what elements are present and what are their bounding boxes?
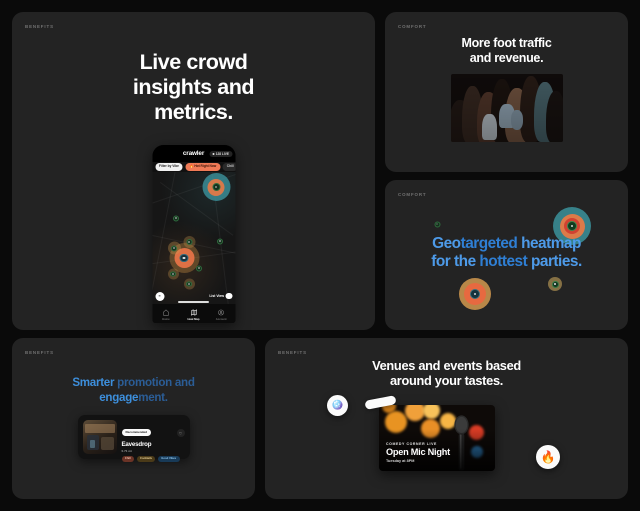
geo-heading-2b: hottest xyxy=(479,253,531,270)
venue-info: Recommended Eavesdrop 0.71 mi Chill Cock… xyxy=(122,420,185,454)
card-venues-events[interactable]: BENEFITS Venues and events based around … xyxy=(265,338,628,499)
venue-distance: 0.71 mi xyxy=(122,449,185,453)
tab-account-label: Account xyxy=(216,318,227,321)
promo-heading-d: ment. xyxy=(138,391,168,404)
map-icon xyxy=(190,309,197,316)
heat-blob-small xyxy=(548,277,562,291)
fire-glyph: 🔥 xyxy=(541,450,556,464)
heat-map-canvas[interactable]: ≡ List View xyxy=(152,172,235,304)
live-dot-icon xyxy=(213,153,215,155)
page-title-geo: Geotargeted heatmap for the hottest part… xyxy=(393,235,620,271)
heat-blob-small[interactable] xyxy=(168,269,179,280)
filter-bar[interactable]: Filter by Vibe 🔥 Hot Right Now Chill xyxy=(152,162,235,172)
card-geotargeted-heatmap[interactable]: COMFORT Geotargeted heatmap for the hott… xyxy=(385,180,628,330)
map-pin xyxy=(552,281,559,288)
promo-heading-a: Smarter xyxy=(72,376,117,389)
app-brand: crawler xyxy=(183,150,204,157)
eyebrow-benefits: BENEFITS xyxy=(278,350,307,355)
promo-heading-line-1: Smarter promotion and xyxy=(28,376,239,391)
crowd-photo xyxy=(451,74,563,142)
promo-heading-line-2: engagement. xyxy=(28,391,239,406)
venues-heading-line-1: Venues and events based xyxy=(265,359,628,374)
map-pin[interactable] xyxy=(212,183,220,191)
eyebrow-comfort: COMFORT xyxy=(398,192,427,197)
page-title-crowd: Live crowd insights and metrics. xyxy=(12,50,375,125)
promo-heading-b: promotion and xyxy=(117,376,195,389)
map-pin[interactable] xyxy=(170,271,176,277)
fire-icon: 🔥 xyxy=(536,445,560,469)
disco-ball-icon: 🪩 xyxy=(327,395,348,416)
page-title-promo: Smarter promotion and engagement. xyxy=(28,376,239,406)
venue-name: Eavesdrop xyxy=(122,441,185,448)
filter-by-vibe-button[interactable]: Filter by Vibe xyxy=(155,163,183,170)
list-view-label: List View xyxy=(209,294,224,298)
event-subtitle: Tuesday at 8PM xyxy=(386,459,450,463)
tab-home-label: Home xyxy=(162,318,169,321)
event-kicker: COMEDY CORNER LIVE xyxy=(386,442,450,446)
card-smarter-promotion[interactable]: BENEFITS Smarter promotion and engagemen… xyxy=(12,338,255,499)
map-pin[interactable] xyxy=(173,215,179,221)
card-foot-traffic[interactable]: COMFORT More foot traffic and revenue. xyxy=(385,12,628,172)
heat-blob-small[interactable] xyxy=(183,236,195,248)
venues-heading-line-2: around your tastes. xyxy=(265,374,628,389)
slide-board: BENEFITS Live crowd insights and metrics… xyxy=(0,0,640,511)
list-view-icon xyxy=(226,293,233,300)
map-swipe-handle[interactable] xyxy=(178,301,209,303)
map-pin xyxy=(470,289,480,299)
geo-heading-1c: heatmap xyxy=(521,235,581,252)
map-pin-plain[interactable] xyxy=(173,215,180,222)
crowd-heading-line-1: Live crowd xyxy=(12,50,375,75)
geo-heading-1b: targeted xyxy=(461,235,522,252)
geo-heading-line-2: for the hottest parties. xyxy=(393,253,620,271)
geo-heading-1a: Geo xyxy=(432,235,460,252)
map-pin[interactable] xyxy=(217,238,223,244)
heat-blob-small[interactable] xyxy=(168,242,181,255)
card-grid: BENEFITS Live crowd insights and metrics… xyxy=(9,9,631,502)
live-count-label: 128 LIVE xyxy=(216,152,229,156)
map-pin xyxy=(434,221,440,227)
crowd-heading-line-2: insights and xyxy=(12,75,375,100)
layers-icon[interactable]: ≡ xyxy=(155,292,164,301)
tab-heat-map-label: Heat Map xyxy=(188,318,200,321)
page-title-traffic: More foot traffic and revenue. xyxy=(385,36,628,65)
event-title: Open Mic Night xyxy=(386,447,450,457)
user-icon xyxy=(218,309,225,316)
crowd-heading-line-3: metrics. xyxy=(12,100,375,125)
venue-tag-list: Chill Cocktails Good Vibes xyxy=(122,456,185,462)
venue-card[interactable]: Recommended Eavesdrop 0.71 mi Chill Cock… xyxy=(78,415,190,459)
tab-heat-map[interactable]: Heat Map xyxy=(180,309,208,321)
geo-heading-line-1: Geotargeted heatmap xyxy=(393,235,620,253)
heat-blob-hotspot[interactable] xyxy=(202,173,230,201)
venue-tag[interactable]: Good Vibes xyxy=(158,456,180,462)
map-pin-plain[interactable] xyxy=(217,238,224,245)
map-pin[interactable] xyxy=(196,265,202,271)
event-info: COMEDY CORNER LIVE Open Mic Night Tuesda… xyxy=(386,442,450,463)
bottom-tab-bar[interactable]: Home Heat Map Account xyxy=(152,304,235,323)
heart-icon[interactable]: ♡ xyxy=(177,429,185,437)
list-view-button[interactable]: List View xyxy=(209,293,232,300)
map-pin xyxy=(567,221,577,231)
geo-heading-2a: for the xyxy=(431,253,479,270)
heat-blob-tiny xyxy=(434,221,441,228)
eyebrow-benefits: BENEFITS xyxy=(25,350,54,355)
geo-heading-2c: parties. xyxy=(531,253,582,270)
promo-heading-c: engage xyxy=(99,391,138,404)
heat-blob-cluster xyxy=(459,278,491,310)
eyebrow-benefits: BENEFITS xyxy=(25,24,54,29)
venue-tag[interactable]: Chill xyxy=(122,456,135,462)
disco-ball-glyph: 🪩 xyxy=(331,400,343,411)
traffic-heading-line-2: and revenue. xyxy=(385,51,628,66)
map-pin[interactable] xyxy=(171,245,177,251)
app-header: crawler 128 LIVE xyxy=(152,145,235,162)
home-icon xyxy=(162,309,169,316)
page-title-venues: Venues and events based around your tast… xyxy=(265,359,628,389)
traffic-heading-line-1: More foot traffic xyxy=(385,36,628,51)
map-pin[interactable] xyxy=(186,281,192,287)
map-pin[interactable] xyxy=(186,239,192,245)
filter-hot-now-chip[interactable]: 🔥 Hot Right Now xyxy=(185,163,220,170)
map-pin-plain[interactable] xyxy=(196,265,203,272)
tab-home[interactable]: Home xyxy=(152,309,180,321)
card-live-crowd[interactable]: BENEFITS Live crowd insights and metrics… xyxy=(12,12,375,330)
phone-mockup: crawler 128 LIVE Filter by Vibe 🔥 Hot Ri… xyxy=(152,145,235,323)
venue-tag[interactable]: Cocktails xyxy=(137,456,156,462)
status-badge: Recommended xyxy=(122,429,152,435)
tab-account[interactable]: Account xyxy=(207,309,235,321)
event-card[interactable]: COMEDY CORNER LIVE Open Mic Night Tuesda… xyxy=(379,405,495,471)
venue-thumbnail xyxy=(83,420,117,454)
filter-chill-chip[interactable]: Chill xyxy=(223,163,235,170)
live-count-badge: 128 LIVE xyxy=(210,151,232,157)
eyebrow-comfort: COMFORT xyxy=(398,24,427,29)
